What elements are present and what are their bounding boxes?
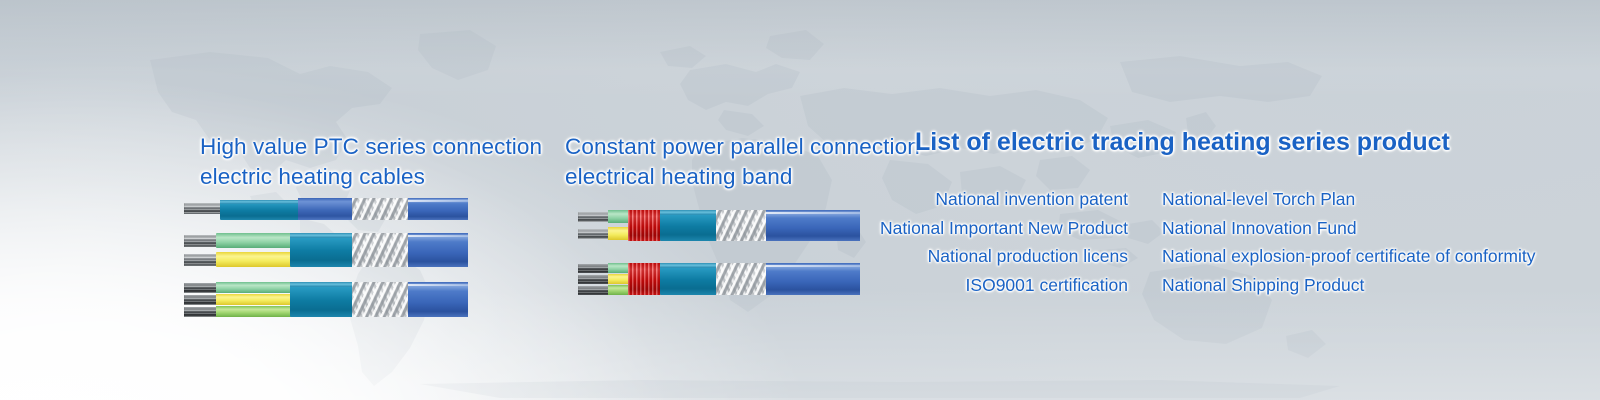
cable-bare-stranded-lead (184, 203, 222, 214)
certification-item: ISO9001 certification (966, 271, 1128, 300)
cable-blue-transition (298, 198, 354, 220)
cable-bare-stranded-lead (184, 295, 218, 305)
certification-column-left: National invention patent National Impor… (860, 185, 1128, 299)
certification-item: National-level Torch Plan (1162, 185, 1355, 214)
cable-teal-top-highlight (290, 282, 354, 287)
cable-bare-stranded-lead (578, 264, 610, 273)
cable-silver-braid-shield (716, 263, 768, 295)
cable-ptc-three-core (184, 282, 468, 318)
cable-teal-jacket (290, 282, 354, 317)
certification-item: National explosion-proof certificate of … (1162, 242, 1536, 271)
heading-ptc-series-line2: electric heating cables (200, 162, 542, 192)
certification-item: National Shipping Product (1162, 271, 1364, 300)
certification-list: National invention patent National Impor… (860, 185, 1550, 299)
product-banner: High value PTC series connection electri… (0, 0, 1600, 400)
cable-red-heating-element (628, 210, 662, 241)
cable-yellow-green-insulated-conductor (216, 306, 294, 317)
cable-teal-top-highlight (220, 200, 300, 204)
heading-constant-power-line1: Constant power parallel connection (565, 132, 920, 162)
cable-constant-power-two-core (578, 210, 860, 242)
cable-blue-outer-jacket (766, 210, 860, 241)
cable-bare-stranded-lead (184, 235, 218, 247)
cable-yellow-insulated-conductor (270, 252, 292, 267)
cable-green-insulated-conductor (270, 233, 292, 248)
cable-green-insulated-conductor (608, 263, 630, 273)
heading-constant-power: Constant power parallel connection elect… (565, 132, 920, 192)
heading-ptc-series: High value PTC series connection electri… (200, 132, 542, 192)
heading-product-list-line1: List of electric tracing heating series … (915, 127, 1450, 157)
cable-green-insulated-conductor (608, 210, 630, 223)
certification-item: National production licens (928, 242, 1128, 271)
cable-bare-stranded-lead (578, 275, 610, 284)
cable-blue-outer-jacket (766, 263, 860, 295)
cable-yellow-green-insulated-conductor (608, 285, 630, 295)
cable-bare-stranded-lead (184, 254, 218, 266)
cable-yellow-insulated-conductor (216, 294, 294, 305)
cable-ptc-single-core (184, 198, 468, 220)
cable-yellow-insulated-conductor (608, 274, 630, 284)
heading-product-list: List of electric tracing heating series … (915, 127, 1450, 157)
cable-silver-braid-shield (352, 282, 410, 317)
cable-yellow-insulated-conductor (608, 227, 630, 240)
cable-yellow-insulated-conductor (216, 252, 274, 267)
certification-item: National invention patent (935, 185, 1128, 214)
cable-teal-jacket (290, 233, 354, 267)
certification-column-right: National-level Torch Plan National Innov… (1162, 185, 1550, 299)
cable-teal-top-highlight (290, 233, 354, 238)
heading-ptc-series-line1: High value PTC series connection (200, 132, 542, 162)
cable-silver-braid-shield (352, 233, 410, 267)
cable-silver-braid-shield (352, 198, 410, 220)
cable-blue-outer-jacket (408, 282, 468, 317)
cable-bare-stranded-lead (184, 307, 218, 317)
cable-bare-stranded-lead (578, 212, 610, 222)
cable-blue-outer-jacket (408, 233, 468, 267)
cable-ptc-two-core (184, 233, 468, 269)
cable-silver-braid-shield (716, 210, 768, 241)
cable-bare-stranded-lead (578, 229, 610, 239)
cable-green-insulated-conductor (216, 282, 294, 293)
cable-green-insulated-conductor (216, 233, 274, 248)
cable-bare-stranded-lead (184, 283, 218, 293)
cable-constant-power-three-core (578, 263, 860, 297)
certification-item: National Important New Product (880, 214, 1128, 243)
cable-teal-top-highlight (660, 263, 718, 268)
certification-item: National Innovation Fund (1162, 214, 1357, 243)
cable-red-heating-element (628, 263, 662, 295)
cable-blue-outer-jacket (408, 198, 468, 220)
cable-teal-top-highlight (660, 210, 718, 215)
cable-bare-stranded-lead (578, 286, 610, 295)
